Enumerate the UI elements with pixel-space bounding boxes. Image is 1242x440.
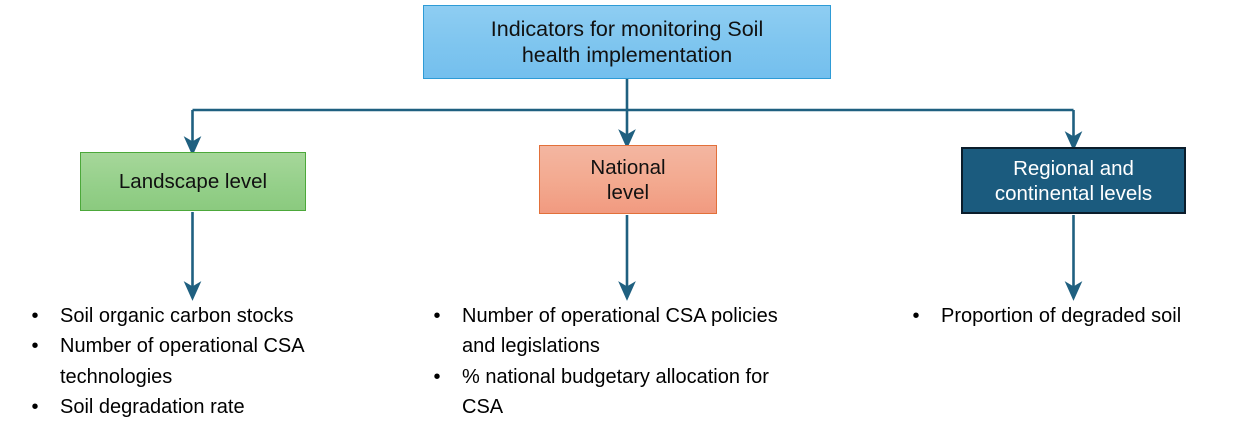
bullet-icon: •: [911, 301, 921, 331]
node-landscape-label: Landscape level: [113, 169, 273, 194]
bullet-icon: •: [30, 331, 40, 361]
list-item: • % national budgetary allocation for CS…: [424, 362, 814, 423]
bullet-icon: •: [432, 362, 442, 392]
indicator-text: Proportion of degraded soil: [941, 305, 1181, 327]
list-item: • Soil organic carbon stocks: [22, 301, 362, 331]
bullet-icon: •: [432, 301, 442, 331]
list-item: • Proportion of degraded soil: [903, 301, 1233, 331]
indicator-text: Soil organic carbon stocks: [60, 305, 293, 327]
node-regional-label: Regional and continental levels: [989, 156, 1158, 206]
indicator-list-landscape: • Soil organic carbon stocks • Number of…: [22, 301, 362, 423]
indicator-list-national: • Number of operational CSA policies and…: [424, 301, 814, 423]
indicator-text: Soil degradation rate: [60, 396, 245, 418]
soil-health-indicators-diagram: Indicators for monitoring Soil health im…: [0, 0, 1242, 440]
list-item: • Number of operational CSA technologies: [22, 331, 362, 392]
node-root-label: Indicators for monitoring Soil health im…: [485, 16, 769, 68]
node-national-level: National level: [539, 145, 717, 214]
list-item: • Soil degradation rate: [22, 392, 362, 422]
node-root-indicators: Indicators for monitoring Soil health im…: [423, 5, 831, 79]
indicator-text: % national budgetary allocation for CSA: [462, 366, 769, 418]
bullet-icon: •: [30, 301, 40, 331]
indicator-text: Number of operational CSA policies and l…: [462, 305, 778, 357]
indicator-text: Number of operational CSA technologies: [60, 335, 303, 387]
list-item: • Number of operational CSA policies and…: [424, 301, 814, 362]
bullet-icon: •: [30, 392, 40, 422]
node-landscape-level: Landscape level: [80, 152, 306, 211]
node-national-label: National level: [584, 155, 671, 205]
indicator-list-regional: • Proportion of degraded soil: [903, 301, 1233, 331]
node-regional-continental-levels: Regional and continental levels: [961, 147, 1186, 214]
